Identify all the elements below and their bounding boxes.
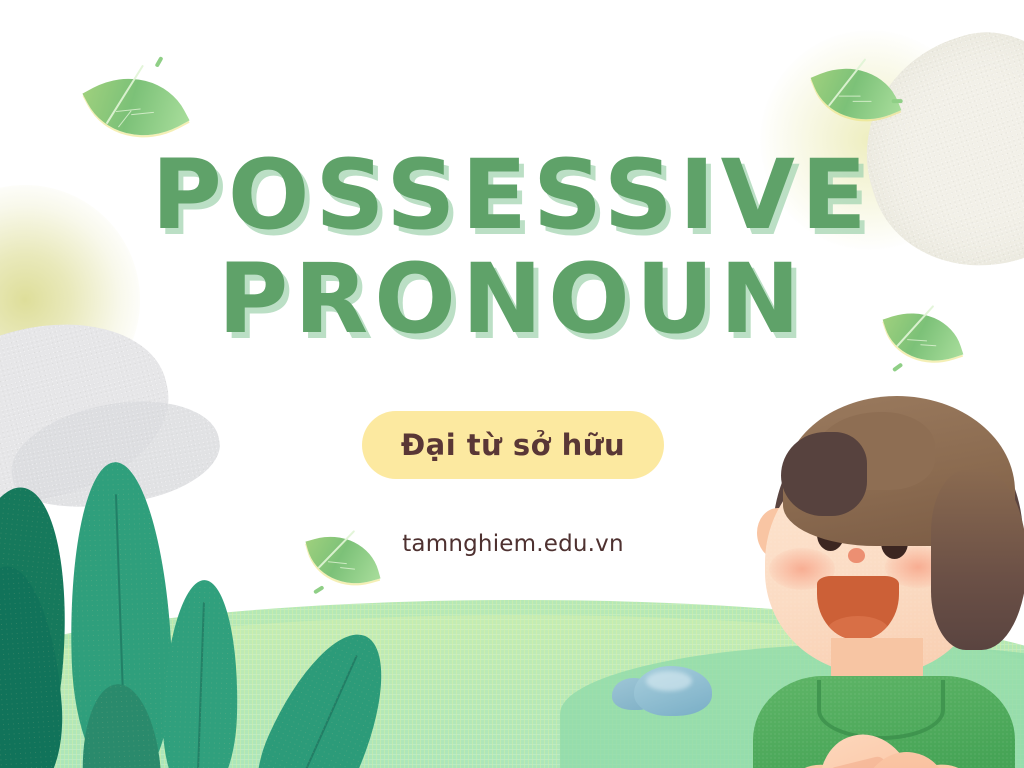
leaf-midrib — [105, 65, 143, 124]
leaf-midrib — [828, 58, 866, 107]
subtitle-badge-label: Đại từ sở hữu — [401, 428, 625, 462]
cream-blob-top-right — [836, 6, 1024, 296]
leaf-stem — [892, 362, 903, 372]
glow-top-right — [760, 30, 980, 250]
stone-highlight — [646, 671, 692, 691]
leaf-vein — [118, 110, 132, 128]
leaf-vein — [853, 101, 872, 102]
leaf-vein — [340, 567, 355, 570]
blob-texture — [836, 6, 1024, 296]
title-line-2: PRONOUN — [0, 254, 1024, 344]
plant-leaf — [236, 617, 409, 768]
leaf-icon-top-right — [811, 51, 902, 137]
boy-mouth — [817, 576, 899, 640]
title-line-1: POSSESSIVE — [0, 150, 1024, 240]
plant-cluster — [0, 470, 340, 768]
leaf-vein — [328, 561, 347, 564]
leaf-icon-mid-right — [883, 299, 964, 375]
stone-group — [612, 664, 722, 724]
leaf-stem — [892, 99, 903, 103]
leaf-vein — [907, 339, 927, 342]
subtitle-badge: Đại từ sở hữu — [362, 411, 664, 479]
boy-hair-side — [931, 470, 1024, 650]
leaf-texture — [160, 579, 242, 768]
glow-left — [0, 185, 140, 415]
leaf-vein — [838, 96, 860, 97]
leaf-texture — [236, 617, 409, 768]
leaf-vein — [131, 112, 154, 116]
boy-hair-lock — [781, 432, 867, 516]
boy-shirt-collar — [817, 680, 945, 740]
plant-leaf — [160, 579, 242, 768]
boy-character — [735, 390, 1024, 768]
page-title: POSSESSIVE PRONOUN — [0, 150, 1024, 344]
boy-tongue — [827, 616, 889, 640]
website-label: tamnghiem.edu.vn — [362, 531, 664, 557]
boy-nose — [848, 548, 865, 563]
slide-canvas: POSSESSIVE PRONOUN Đại từ sở hữu tamnghi… — [0, 0, 1024, 768]
leaf-icon-top-left — [82, 55, 189, 159]
leaf-stem — [155, 56, 164, 68]
leaf-vein — [920, 344, 936, 346]
